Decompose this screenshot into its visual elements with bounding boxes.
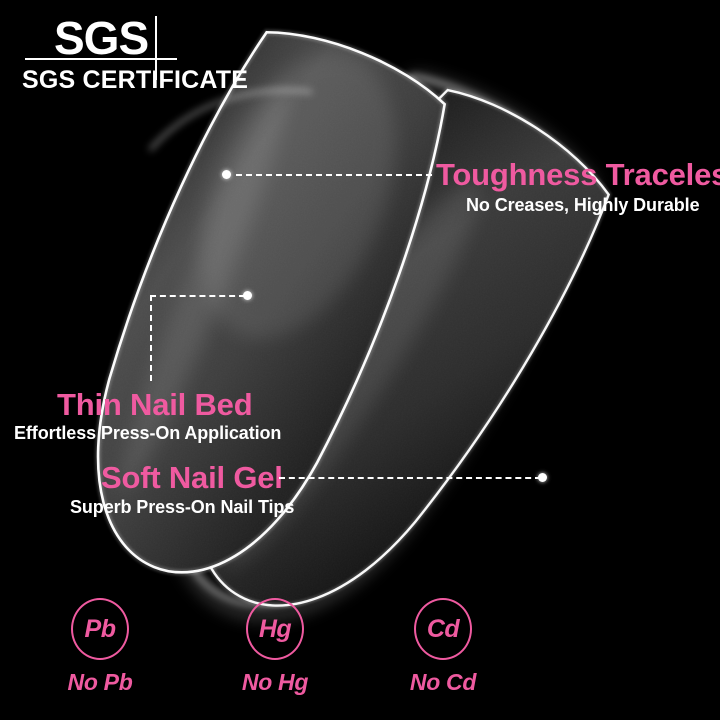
mercury-symbol-circle: Hg: [246, 598, 304, 660]
safety-badge-mercury: Hg No Hg: [200, 598, 350, 696]
callout-line-thin-nail-bed-h: [150, 295, 245, 297]
safety-badge-row: Pb No Pb Hg No Hg Cd No Cd: [0, 598, 720, 708]
callout-dot-soft-nail-gel: [538, 473, 547, 482]
lead-symbol-text: Pb: [85, 617, 116, 642]
callout-dot-toughness: [222, 170, 231, 179]
safety-badge-cadmium: Cd No Cd: [368, 598, 518, 696]
sgs-certificate-badge: SGS SGS CERTIFICATE: [22, 14, 232, 94]
lead-symbol-circle: Pb: [71, 598, 129, 660]
callout-subtitle-toughness: No Creases, Highly Durable: [466, 195, 699, 216]
callout-line-soft-nail-gel: [279, 477, 541, 479]
callout-title-toughness: Toughness Traceless: [436, 157, 720, 193]
product-feature-graphic: SGS SGS CERTIFICATE Toughness Traceless …: [0, 0, 720, 720]
mercury-badge-label: No Hg: [200, 669, 350, 696]
cadmium-symbol-circle: Cd: [414, 598, 472, 660]
callout-title-soft-nail-gel: Soft Nail Gel: [101, 460, 283, 496]
lead-badge-label: No Pb: [25, 669, 175, 696]
mercury-symbol-text: Hg: [259, 617, 291, 642]
callout-line-toughness: [236, 174, 432, 176]
callout-subtitle-soft-nail-gel: Superb Press-On Nail Tips: [70, 497, 294, 518]
sgs-caption: SGS CERTIFICATE: [22, 66, 248, 95]
callout-title-thin-nail-bed: Thin Nail Bed: [57, 387, 252, 423]
callout-subtitle-thin-nail-bed: Effortless Press-On Application: [14, 423, 281, 444]
cadmium-badge-label: No Cd: [368, 669, 518, 696]
safety-badge-lead: Pb No Pb: [25, 598, 175, 696]
sgs-logo-text: SGS: [54, 14, 148, 62]
cadmium-symbol-text: Cd: [427, 617, 459, 642]
callout-line-thin-nail-bed-v: [150, 295, 152, 381]
